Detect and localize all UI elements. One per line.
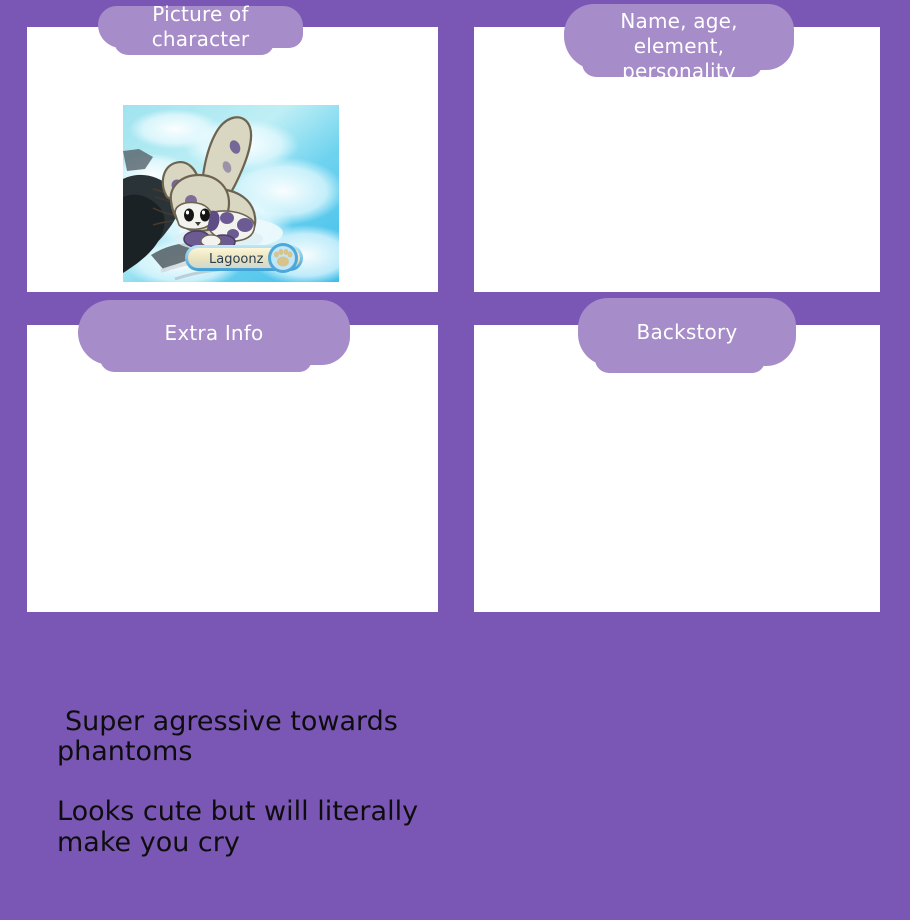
heading-backstory: Backstory [578, 298, 796, 366]
nametag-label: Lagoonz [209, 252, 264, 267]
panel-picture: Lagoonz [27, 27, 438, 292]
heading-picture: Picture of character [98, 6, 303, 48]
nametag: Lagoonz [185, 243, 303, 273]
extra-info-text: Super agressive towards phantoms Looks c… [57, 707, 457, 858]
character-illustration: Lagoonz [123, 105, 339, 282]
character-image: Lagoonz [123, 105, 339, 282]
extra-info-spacer [57, 767, 457, 797]
heading-details: Name, age, element, personality [564, 4, 794, 70]
character-sheet-board: Lagoonz Jewel [0, 0, 910, 640]
extra-info-line-1: Super agressive towards phantoms [57, 707, 457, 767]
extra-info-line-2: Looks cute but will literally make you c… [57, 797, 457, 857]
heading-extra-info: Extra Info [78, 300, 350, 365]
